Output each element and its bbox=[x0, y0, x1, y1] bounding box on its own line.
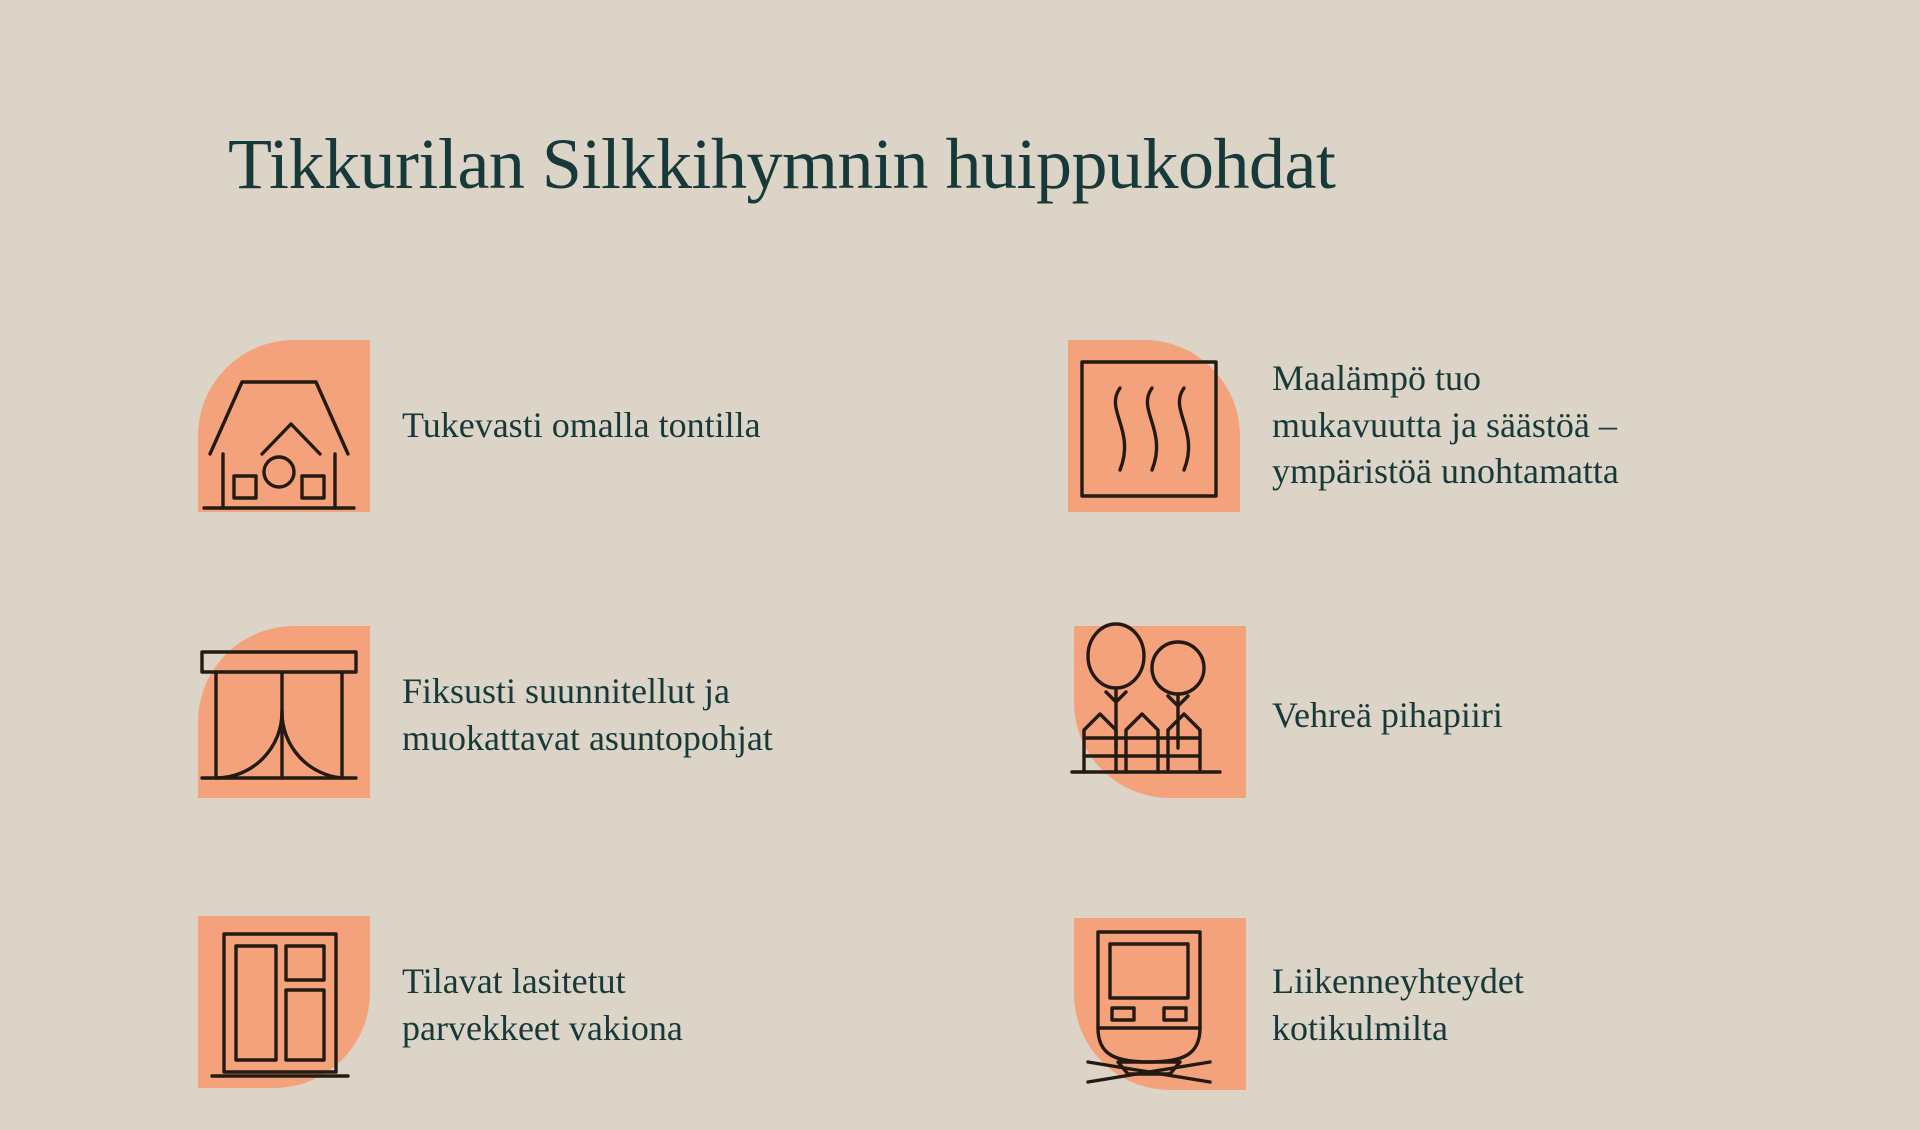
heat-waves-icon bbox=[1060, 336, 1238, 514]
train-icon bbox=[1060, 916, 1238, 1094]
feature-item-geothermal-heat[interactable]: Maalämpö tuo mukavuutta ja säästöä – ymp… bbox=[1060, 300, 1800, 550]
icon-container bbox=[190, 626, 368, 804]
feature-label-line: muokattavat asuntopohjat bbox=[402, 715, 773, 762]
feature-item-own-plot[interactable]: Tukevasti omalla tontilla bbox=[190, 300, 910, 550]
feature-label-line: Maalämpö tuo bbox=[1272, 355, 1619, 402]
feature-label-line: Vehreä pihapiiri bbox=[1272, 692, 1503, 739]
icon-container bbox=[190, 336, 368, 514]
balcony-window-icon bbox=[190, 916, 368, 1094]
feature-label-line: Fiksusti suunnitellut ja bbox=[402, 668, 773, 715]
trees-fence-icon bbox=[1060, 626, 1238, 804]
feature-label-line: kotikulmilta bbox=[1272, 1005, 1524, 1052]
house-icon bbox=[190, 336, 368, 514]
slide-root: Tikkurilan Silkkihymnin huippukohdat bbox=[0, 0, 1920, 1130]
feature-label: Liikenneyhteydet kotikulmilta bbox=[1272, 958, 1524, 1052]
icon-container bbox=[1060, 336, 1238, 514]
feature-item-green-yard[interactable]: Vehreä pihapiiri bbox=[1060, 590, 1800, 840]
feature-item-transport-links[interactable]: Liikenneyhteydet kotikulmilta bbox=[1060, 880, 1800, 1130]
feature-item-glazed-balconies[interactable]: Tilavat lasitetut parvekkeet vakiona bbox=[190, 880, 910, 1130]
page-title: Tikkurilan Silkkihymnin huippukohdat bbox=[228, 128, 1335, 200]
feature-label-line: ympäristöä unohtamatta bbox=[1272, 448, 1619, 495]
feature-label-line: Tukevasti omalla tontilla bbox=[402, 402, 761, 449]
icon-container bbox=[1060, 916, 1238, 1094]
feature-label: Vehreä pihapiiri bbox=[1272, 692, 1503, 739]
features-column-right: Maalämpö tuo mukavuutta ja säästöä – ymp… bbox=[1060, 300, 1800, 1130]
icon-container bbox=[190, 916, 368, 1094]
feature-label-line: mukavuutta ja säästöä – bbox=[1272, 402, 1619, 449]
feature-label-line: Tilavat lasitetut bbox=[402, 958, 683, 1005]
feature-label: Maalämpö tuo mukavuutta ja säästöä – ymp… bbox=[1272, 355, 1619, 495]
features-column-left: Tukevasti omalla tontilla bbox=[190, 300, 910, 1130]
floor-plan-icon bbox=[190, 626, 368, 804]
feature-item-floor-plans[interactable]: Fiksusti suunnitellut ja muokattavat asu… bbox=[190, 590, 910, 840]
feature-label: Fiksusti suunnitellut ja muokattavat asu… bbox=[402, 668, 773, 762]
feature-label-line: parvekkeet vakiona bbox=[402, 1005, 683, 1052]
feature-label: Tilavat lasitetut parvekkeet vakiona bbox=[402, 958, 683, 1052]
feature-label: Tukevasti omalla tontilla bbox=[402, 402, 761, 449]
icon-container bbox=[1060, 626, 1238, 804]
feature-label-line: Liikenneyhteydet bbox=[1272, 958, 1524, 1005]
